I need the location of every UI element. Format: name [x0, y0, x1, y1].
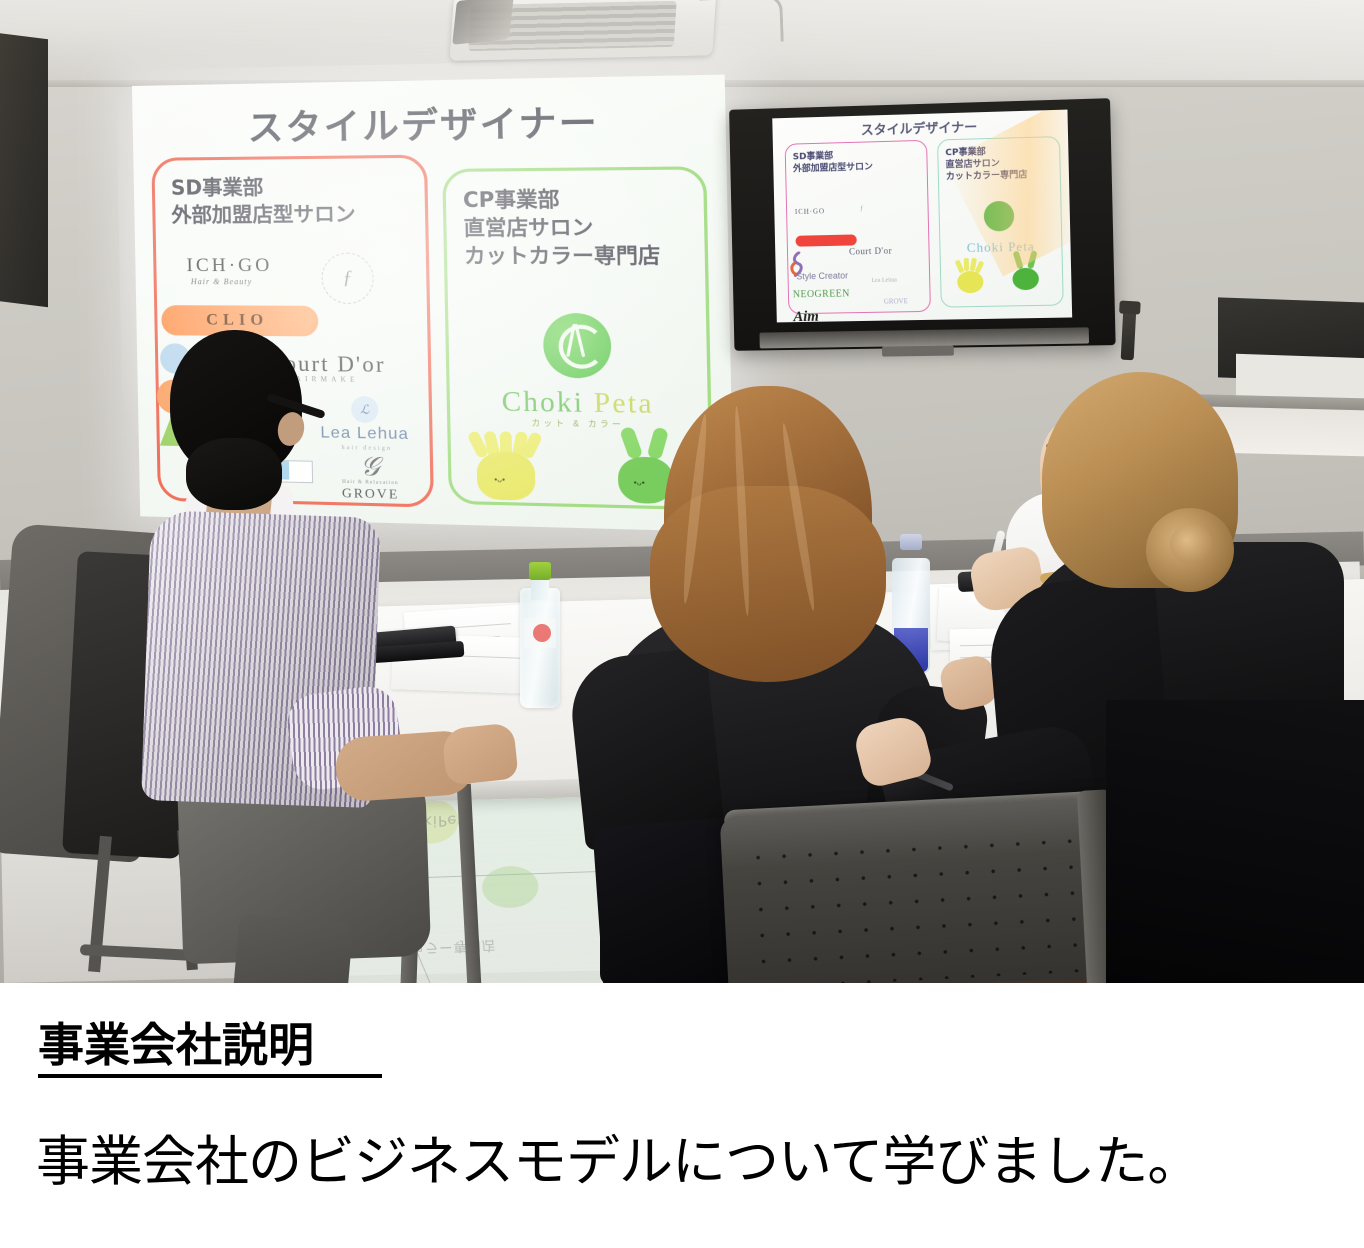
wall-dark-panel-left	[0, 33, 48, 307]
caption-heading-underline	[38, 1074, 382, 1078]
foreground-shadow-right	[1106, 700, 1364, 983]
tv-sd-heading: SD事業部 外部加盟店型サロン	[793, 148, 923, 176]
meeting-photo: スタイルデザイナー SD事業部 外部加盟店型サロン ICH·GO Hair & …	[0, 0, 1364, 983]
tv-logo-court-dor: Court D'or	[849, 246, 892, 257]
wall-bracket	[1121, 308, 1137, 361]
foreground-chair-perforations	[744, 827, 1103, 983]
tv-box-cp: CP事業部 直営店サロン カットカラー専門店 Choki Peta	[937, 136, 1064, 308]
tv-mount	[882, 346, 954, 357]
cp-heading-line1: CP事業部	[463, 184, 695, 214]
wall-tv-monitor: スタイルデザイナー SD事業部 外部加盟店型サロン ICH·GO ƒ Style…	[729, 98, 1116, 351]
ac-vane	[452, 0, 514, 45]
logo-ichigo: ICH·GO	[186, 255, 272, 277]
logo-ichigo-tagline: Hair & Beauty	[191, 277, 253, 286]
tv-logo-ichigo: ICH·GO	[795, 207, 825, 216]
bottle-cap	[529, 562, 551, 580]
tv-logo-lea-lehua: Lea Lehua	[871, 277, 896, 283]
slide-title: スタイルデザイナー	[132, 92, 726, 153]
tv-cp-line3: カットカラー専門店	[946, 169, 1056, 184]
chokipeta-logo-mark	[543, 313, 612, 379]
attendee-right-hair-bun-inner	[1170, 524, 1212, 564]
presenter-hair	[186, 438, 282, 510]
water-bottle-green-cap	[520, 562, 560, 708]
tv-sd-line2: 外部加盟店型サロン	[793, 160, 923, 176]
tv-logo-neogreen: NEOGREEN	[793, 288, 850, 300]
slide-box-cp-heading: CP事業部 直営店サロン カットカラー専門店	[463, 184, 696, 270]
tv-logo-style-creator: Style Creator	[796, 270, 848, 281]
tv-logo-clio	[795, 234, 856, 246]
caption-body: 事業会社のビジネスモデルについて学びました。	[36, 1117, 1200, 1196]
sd-heading-line2: 外部加盟店型サロン	[171, 200, 417, 229]
chokipeta-choki: Choki	[501, 386, 584, 418]
tv-logo-aim: Aim	[793, 309, 819, 323]
cp-heading-line2: 直営店サロン	[463, 213, 695, 242]
tv-cp-heading: CP事業部 直営店サロン カットカラー専門店	[945, 144, 1056, 184]
slide-box-sd-heading: SD事業部 外部加盟店型サロン	[171, 172, 417, 229]
tv-box-sd: SD事業部 外部加盟店型サロン ICH·GO ƒ Style Creator N…	[785, 140, 931, 315]
ac-pipe	[699, 0, 784, 44]
bottle-label-mark	[533, 624, 551, 642]
presenter-person	[60, 330, 480, 983]
tv-chokipeta-mark	[984, 201, 1015, 232]
tv-logo-grove: GROVE	[884, 297, 908, 305]
yellow-hand-mascot: •ᴗ•	[470, 431, 542, 503]
sd-heading-line1: SD事業部	[171, 172, 417, 202]
caption-heading: 事業会社説明	[38, 1009, 314, 1075]
tv-logo-f: ƒ	[860, 204, 864, 212]
page-root: スタイルデザイナー SD事業部 外部加盟店型サロン ICH·GO Hair & …	[0, 0, 1364, 1248]
tv-green-mascot	[1007, 250, 1044, 293]
cp-heading-line3: カットカラー専門店	[464, 242, 696, 271]
tv-chokipeta-wordmark: Choki Peta	[940, 238, 1061, 257]
caption-block: 事業会社説明 事業会社のビジネスモデルについて学びました。	[0, 983, 1364, 1248]
tv-yellow-mascot	[953, 258, 988, 295]
tv-screen: スタイルデザイナー SD事業部 外部加盟店型サロン ICH·GO ƒ Style…	[772, 110, 1072, 323]
presenter-leg	[225, 913, 354, 983]
logo-f-circle: ƒ	[321, 253, 374, 304]
presenter-hand	[441, 722, 518, 785]
